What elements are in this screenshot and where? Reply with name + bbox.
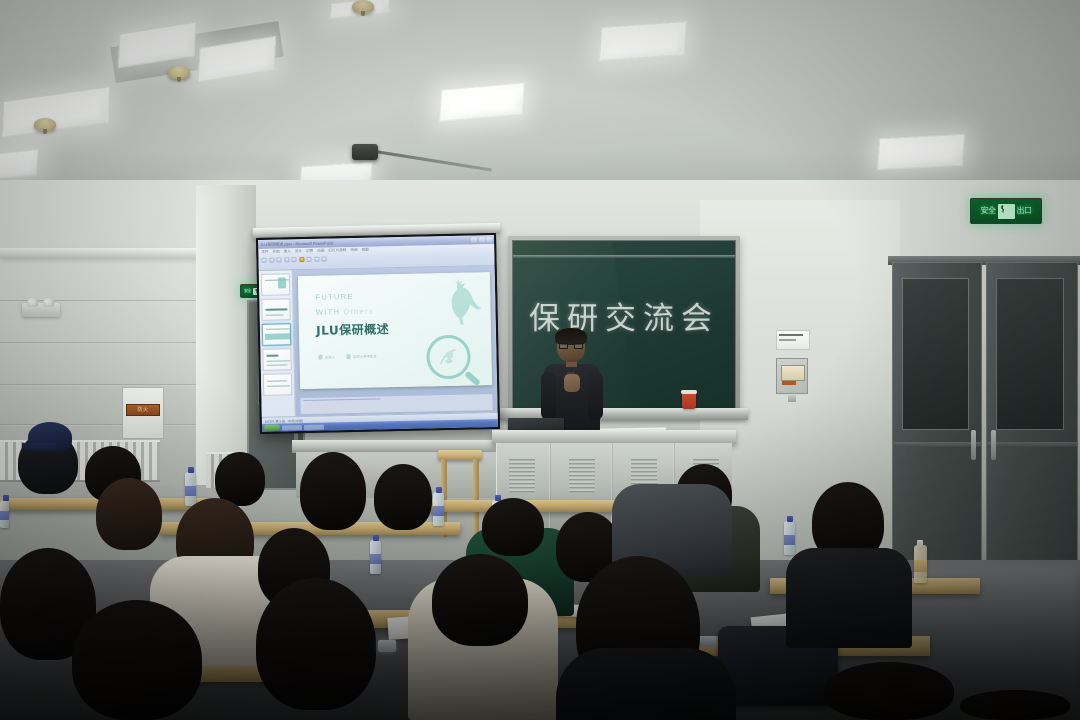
slide-subtext-right-label: 吉林大学学生会 xyxy=(353,353,377,358)
cabinet-divider xyxy=(549,443,551,539)
emergency-bulb xyxy=(43,298,54,307)
ribbon-tab[interactable]: 文件 xyxy=(261,250,268,255)
slide-eyebrow-line1: FUTURE xyxy=(315,292,353,302)
magnifier-inner-graphic xyxy=(434,343,465,374)
glasses-icon xyxy=(559,343,583,349)
bottle-label xyxy=(0,511,9,519)
ribbon-tab[interactable]: 动画 xyxy=(317,249,324,254)
bottle-label xyxy=(433,506,444,516)
thumb-line xyxy=(266,355,278,358)
slide-eyebrow-with: WITH xyxy=(316,307,341,317)
slide-subtext-left: 主讲人 xyxy=(319,354,335,359)
bottle-label xyxy=(185,486,196,496)
org-icon xyxy=(347,354,351,359)
slide-thumbnail[interactable] xyxy=(262,348,291,371)
powerpoint-body: FUTURE WITH Others JLU保研概述 主讲人 xyxy=(259,266,498,417)
slide-eyebrow-line2: WITH Others xyxy=(316,306,374,316)
window-controls[interactable] xyxy=(471,237,492,242)
wall-control-panel[interactable] xyxy=(776,358,808,394)
italic-icon[interactable] xyxy=(276,257,281,262)
water-bottle xyxy=(433,492,444,526)
control-panel-display xyxy=(781,365,805,381)
exit-sign-right: 安全 出口 xyxy=(970,198,1042,224)
start-button[interactable] xyxy=(264,425,280,431)
slide-thumbnail[interactable] xyxy=(261,298,290,321)
glasses-lens xyxy=(559,343,568,349)
water-bottle xyxy=(185,472,196,506)
find-icon[interactable] xyxy=(321,256,326,261)
taskbar-item[interactable] xyxy=(304,424,324,429)
glasses-lens xyxy=(574,343,583,349)
ribbon-tab[interactable]: 开始 xyxy=(272,250,279,255)
blackboard-rail xyxy=(513,255,735,258)
slide-eyebrow-others: Others xyxy=(343,306,373,316)
bottle-label xyxy=(784,535,795,545)
door-glass xyxy=(996,278,1064,430)
taskbar-item[interactable] xyxy=(282,425,302,430)
thumb-graphic xyxy=(265,333,291,340)
align-icon[interactable] xyxy=(284,257,289,262)
status-language: 中文(中国) xyxy=(288,418,303,423)
person-icon xyxy=(319,354,323,359)
bold-icon[interactable] xyxy=(269,257,274,262)
ribbon-tab[interactable]: 插入 xyxy=(284,249,291,254)
cap-brim xyxy=(22,443,56,452)
door-handle[interactable] xyxy=(971,430,976,460)
slide-editing-stage[interactable]: FUTURE WITH Others JLU保研概述 主讲人 xyxy=(293,266,498,416)
exit-sign-text-left: 安全 xyxy=(244,289,251,293)
water-bottle xyxy=(370,540,381,574)
control-panel-indicator xyxy=(782,381,796,385)
font-icon[interactable] xyxy=(261,257,266,262)
door-glass xyxy=(902,278,969,430)
thumb-line xyxy=(267,360,291,362)
smartphone xyxy=(700,636,716,647)
sprinkler-head xyxy=(352,0,374,13)
thumb-line xyxy=(267,364,288,366)
bottle-label xyxy=(914,560,927,571)
lecture-hall-photo: 安全 出口 安全 出口 防火 xyxy=(0,0,1080,720)
audience-person xyxy=(96,478,162,550)
notice-line xyxy=(779,334,803,336)
wall-notice xyxy=(776,330,810,350)
audience-person xyxy=(556,648,736,720)
stool-leg xyxy=(473,459,479,537)
maximize-icon[interactable] xyxy=(479,237,485,242)
audience-person xyxy=(256,578,376,710)
ribbon-tab[interactable]: 视图 xyxy=(362,248,369,253)
ribbon-tab[interactable]: 幻灯片放映 xyxy=(328,248,346,253)
door-midrail xyxy=(893,442,981,447)
smartphone xyxy=(378,640,396,652)
slide-subtext: 主讲人 吉林大学学生会 xyxy=(319,353,377,359)
thumb-line xyxy=(266,314,284,316)
podium-countertop xyxy=(492,430,736,444)
ribbon-tab[interactable]: 切换 xyxy=(306,249,313,254)
wall-plaque: 防火 xyxy=(126,404,160,416)
door-panel-left[interactable] xyxy=(892,262,982,568)
running-person-exit-icon xyxy=(998,204,1015,219)
shape-fill-icon[interactable] xyxy=(299,257,304,262)
shapes-icon[interactable] xyxy=(306,256,311,261)
speaker-hands xyxy=(564,374,580,392)
ceiling-light xyxy=(439,82,525,122)
slide-thumbnail-selected[interactable] xyxy=(262,323,291,346)
ceiling-light xyxy=(599,21,687,61)
notice-line xyxy=(779,339,796,341)
status-slide-number: 幻灯片 第 3 张 xyxy=(265,418,285,423)
audience-person xyxy=(960,690,1070,720)
speaker-arm-right xyxy=(588,372,603,420)
double-door[interactable] xyxy=(888,256,1080,568)
projection-screen: JLU保研概述.pptx - Microsoft PowerPoint 文件 开… xyxy=(256,233,500,434)
thumb-line xyxy=(267,385,290,387)
arrange-icon[interactable] xyxy=(314,256,319,261)
bottle-label xyxy=(370,554,381,564)
thumb-line xyxy=(266,328,290,330)
ribbon-tab[interactable]: 设计 xyxy=(295,249,302,254)
water-bottle xyxy=(914,545,927,583)
control-panel-knob[interactable] xyxy=(788,395,796,402)
water-bottle xyxy=(0,500,9,528)
minimize-icon[interactable] xyxy=(471,237,477,242)
powerpoint-window[interactable]: JLU保研概述.pptx - Microsoft PowerPoint 文件 开… xyxy=(258,235,498,432)
emergency-bulb xyxy=(27,298,38,307)
speaker-arm-left xyxy=(541,372,556,420)
audience-person xyxy=(72,600,202,720)
ceiling-light xyxy=(2,86,110,138)
list-icon[interactable] xyxy=(291,257,296,262)
audience-person xyxy=(824,662,954,720)
notes-placeholder-line xyxy=(303,398,380,401)
current-slide: FUTURE WITH Others JLU保研概述 主讲人 xyxy=(298,272,492,389)
thumb-graphic xyxy=(278,277,286,288)
exit-sign-text-right: 出口 xyxy=(1017,207,1032,215)
cabinet-vent xyxy=(509,459,535,493)
slide-subtext-left-label: 主讲人 xyxy=(325,354,335,359)
sprinkler-head xyxy=(34,118,56,131)
door-panel-right[interactable] xyxy=(986,262,1078,568)
slide-thumbnail[interactable] xyxy=(261,273,290,296)
deer-silhouette-icon xyxy=(448,277,483,330)
baseball-cap xyxy=(28,422,72,452)
ribbon-tab[interactable]: 审阅 xyxy=(350,248,357,253)
slide-title: JLU保研概述 xyxy=(316,320,389,339)
slide-subtext-right: 吉林大学学生会 xyxy=(347,353,377,359)
door-handle[interactable] xyxy=(991,430,996,460)
cabinet-vent xyxy=(569,459,595,493)
window-title: JLU保研概述.pptx - Microsoft PowerPoint xyxy=(260,240,333,248)
close-icon[interactable] xyxy=(486,237,492,242)
water-bottle xyxy=(784,521,795,555)
audience-person xyxy=(432,554,528,646)
door-midrail xyxy=(987,442,1077,447)
emergency-light xyxy=(22,303,60,317)
audience-person xyxy=(300,452,366,530)
audience-person xyxy=(786,548,912,648)
slide-thumbnail[interactable] xyxy=(263,373,292,396)
sprinkler-head xyxy=(168,66,190,79)
wall-plaque-text: 防火 xyxy=(137,408,148,413)
exit-sign-text-left: 安全 xyxy=(981,207,996,215)
audience-person xyxy=(482,498,544,556)
slide-thumbnail-panel[interactable] xyxy=(259,270,296,417)
audience-person xyxy=(374,464,432,530)
thumb-line xyxy=(265,308,287,311)
slide-notes-pane[interactable] xyxy=(300,394,492,414)
red-cup xyxy=(682,392,696,409)
thumb-line xyxy=(267,380,287,382)
